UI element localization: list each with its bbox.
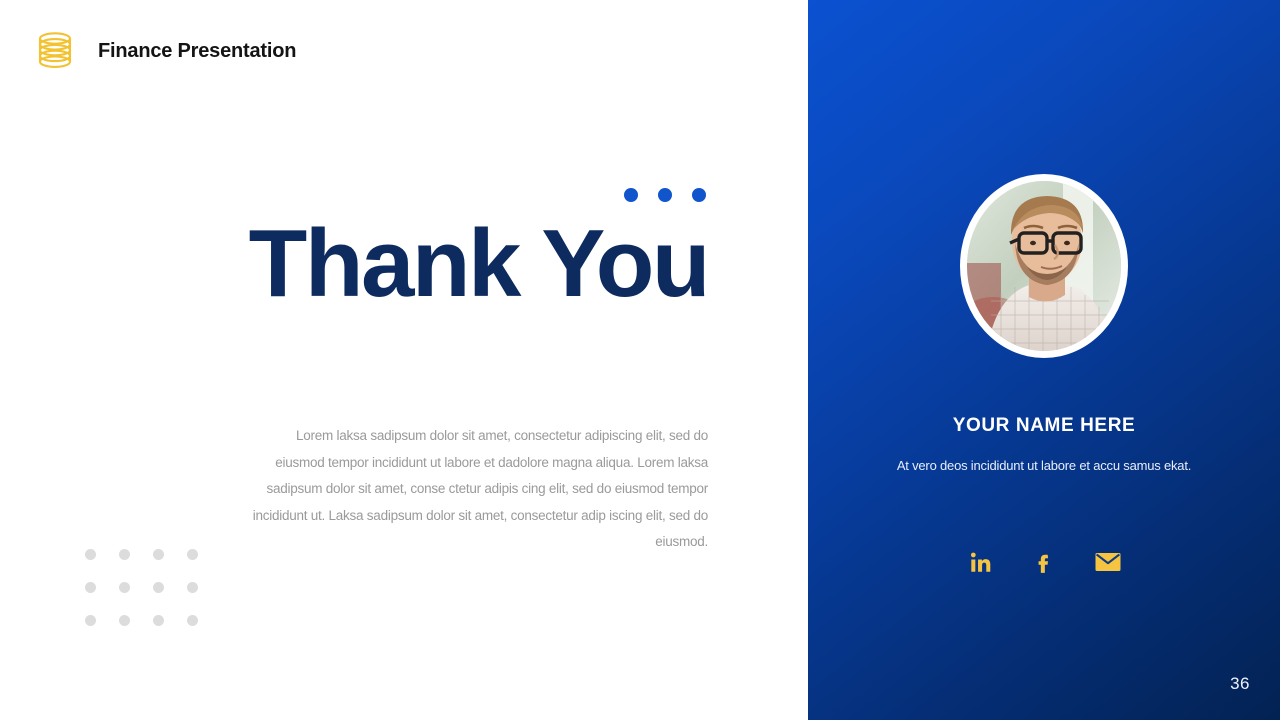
avatar bbox=[967, 181, 1121, 351]
grid-dot bbox=[119, 549, 130, 560]
email-icon[interactable] bbox=[1091, 546, 1125, 578]
grid-dot bbox=[187, 582, 198, 593]
grid-dot bbox=[119, 615, 130, 626]
grid-dot bbox=[153, 549, 164, 560]
accent-dots bbox=[624, 188, 706, 202]
person-description: At vero deos incididunt ut labore et acc… bbox=[884, 457, 1204, 476]
page-title: Thank You bbox=[0, 214, 708, 315]
grid-dot bbox=[187, 615, 198, 626]
coin-stack-icon bbox=[30, 28, 80, 74]
grid-dot bbox=[85, 615, 96, 626]
person-name: YOUR NAME HERE bbox=[808, 415, 1280, 437]
avatar-ring bbox=[960, 174, 1128, 358]
grid-dot bbox=[85, 582, 96, 593]
accent-dot bbox=[692, 188, 706, 202]
facebook-icon[interactable] bbox=[1027, 546, 1061, 578]
accent-dot bbox=[658, 188, 672, 202]
slide-thank-you: Finance Presentation Thank You Lorem lak… bbox=[0, 0, 1280, 720]
grid-dot bbox=[119, 582, 130, 593]
presentation-title: Finance Presentation bbox=[98, 40, 296, 63]
accent-dot bbox=[624, 188, 638, 202]
left-content-pane: Finance Presentation Thank You Lorem lak… bbox=[0, 0, 808, 720]
decorative-dot-grid bbox=[85, 549, 221, 648]
slide-header: Finance Presentation bbox=[30, 28, 296, 74]
grid-dot bbox=[85, 549, 96, 560]
body-paragraph: Lorem laksa sadipsum dolor sit amet, con… bbox=[250, 423, 708, 556]
grid-dot bbox=[153, 615, 164, 626]
grid-dot bbox=[153, 582, 164, 593]
grid-dot bbox=[187, 549, 198, 560]
social-links bbox=[808, 546, 1280, 578]
profile-panel: YOUR NAME HERE At vero deos incididunt u… bbox=[808, 0, 1280, 720]
page-number: 36 bbox=[1230, 674, 1250, 694]
linkedin-icon[interactable] bbox=[963, 546, 997, 578]
